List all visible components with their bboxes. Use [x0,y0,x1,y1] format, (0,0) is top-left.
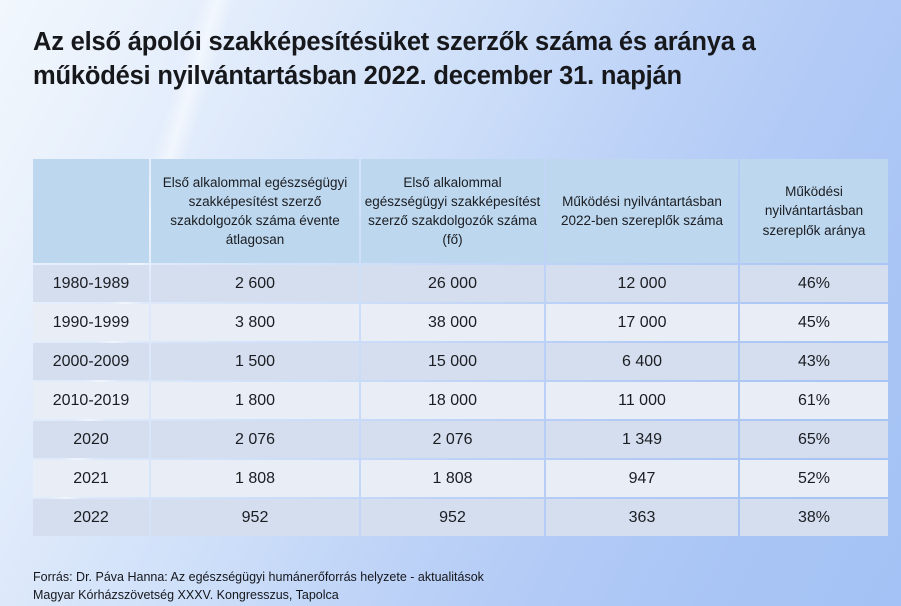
table-row: 1990-1999 3 800 38 000 17 000 45% [33,304,888,341]
table-row: 2021 1 808 1 808 947 52% [33,460,888,497]
cell-total-count: 952 [361,499,544,536]
cell-registered-2022: 1 349 [546,421,738,458]
cell-avg-per-year: 1 800 [151,382,359,419]
qualification-statistics-table: Első alkalommal egészségügyi szakképesít… [31,157,890,538]
cell-registered-share: 46% [740,265,888,302]
cell-period: 2021 [33,460,149,497]
cell-avg-per-year: 3 800 [151,304,359,341]
cell-avg-per-year: 2 076 [151,421,359,458]
cell-period: 1990-1999 [33,304,149,341]
cell-total-count: 26 000 [361,265,544,302]
cell-registered-share: 45% [740,304,888,341]
table-header-row: Első alkalommal egészségügyi szakképesít… [33,159,888,263]
cell-total-count: 18 000 [361,382,544,419]
source-footer: Forrás: Dr. Páva Hanna: Az egészségügyi … [33,568,484,604]
cell-total-count: 38 000 [361,304,544,341]
table-row: 1980-1989 2 600 26 000 12 000 46% [33,265,888,302]
column-header-registered-share: Működési nyilvántartásban szereplők arán… [740,159,888,263]
table-row: 2000-2009 1 500 15 000 6 400 43% [33,343,888,380]
cell-registered-2022: 11 000 [546,382,738,419]
page-title: Az első ápolói szakképesítésüket szerzők… [33,26,843,94]
source-line-1: Forrás: Dr. Páva Hanna: Az egészségügyi … [33,568,484,586]
cell-registered-share: 43% [740,343,888,380]
cell-registered-share: 61% [740,382,888,419]
table-row: 2010-2019 1 800 18 000 11 000 61% [33,382,888,419]
cell-total-count: 2 076 [361,421,544,458]
cell-period: 2022 [33,499,149,536]
cell-avg-per-year: 1 808 [151,460,359,497]
cell-period: 2010-2019 [33,382,149,419]
cell-avg-per-year: 1 500 [151,343,359,380]
column-header-registered-2022: Működési nyilvántartásban 2022-ben szere… [546,159,738,263]
cell-total-count: 1 808 [361,460,544,497]
cell-registered-2022: 363 [546,499,738,536]
cell-registered-2022: 947 [546,460,738,497]
table-row: 2022 952 952 363 38% [33,499,888,536]
table-header: Első alkalommal egészségügyi szakképesít… [33,159,888,263]
table-row: 2020 2 076 2 076 1 349 65% [33,421,888,458]
table-body: 1980-1989 2 600 26 000 12 000 46% 1990-1… [33,265,888,536]
data-table-container: Első alkalommal egészségügyi szakképesít… [31,157,878,538]
cell-avg-per-year: 952 [151,499,359,536]
cell-total-count: 15 000 [361,343,544,380]
cell-period: 2020 [33,421,149,458]
cell-registered-share: 38% [740,499,888,536]
cell-avg-per-year: 2 600 [151,265,359,302]
cell-registered-2022: 17 000 [546,304,738,341]
cell-period: 1980-1989 [33,265,149,302]
cell-registered-2022: 12 000 [546,265,738,302]
cell-registered-share: 65% [740,421,888,458]
cell-period: 2000-2009 [33,343,149,380]
cell-registered-2022: 6 400 [546,343,738,380]
cell-registered-share: 52% [740,460,888,497]
column-header-avg-per-year: Első alkalommal egészségügyi szakképesít… [151,159,359,263]
column-header-total-count: Első alkalommal egészségügyi szakképesít… [361,159,544,263]
column-header-period [33,159,149,263]
source-line-2: Magyar Kórházszövetség XXXV. Kongresszus… [33,586,484,604]
